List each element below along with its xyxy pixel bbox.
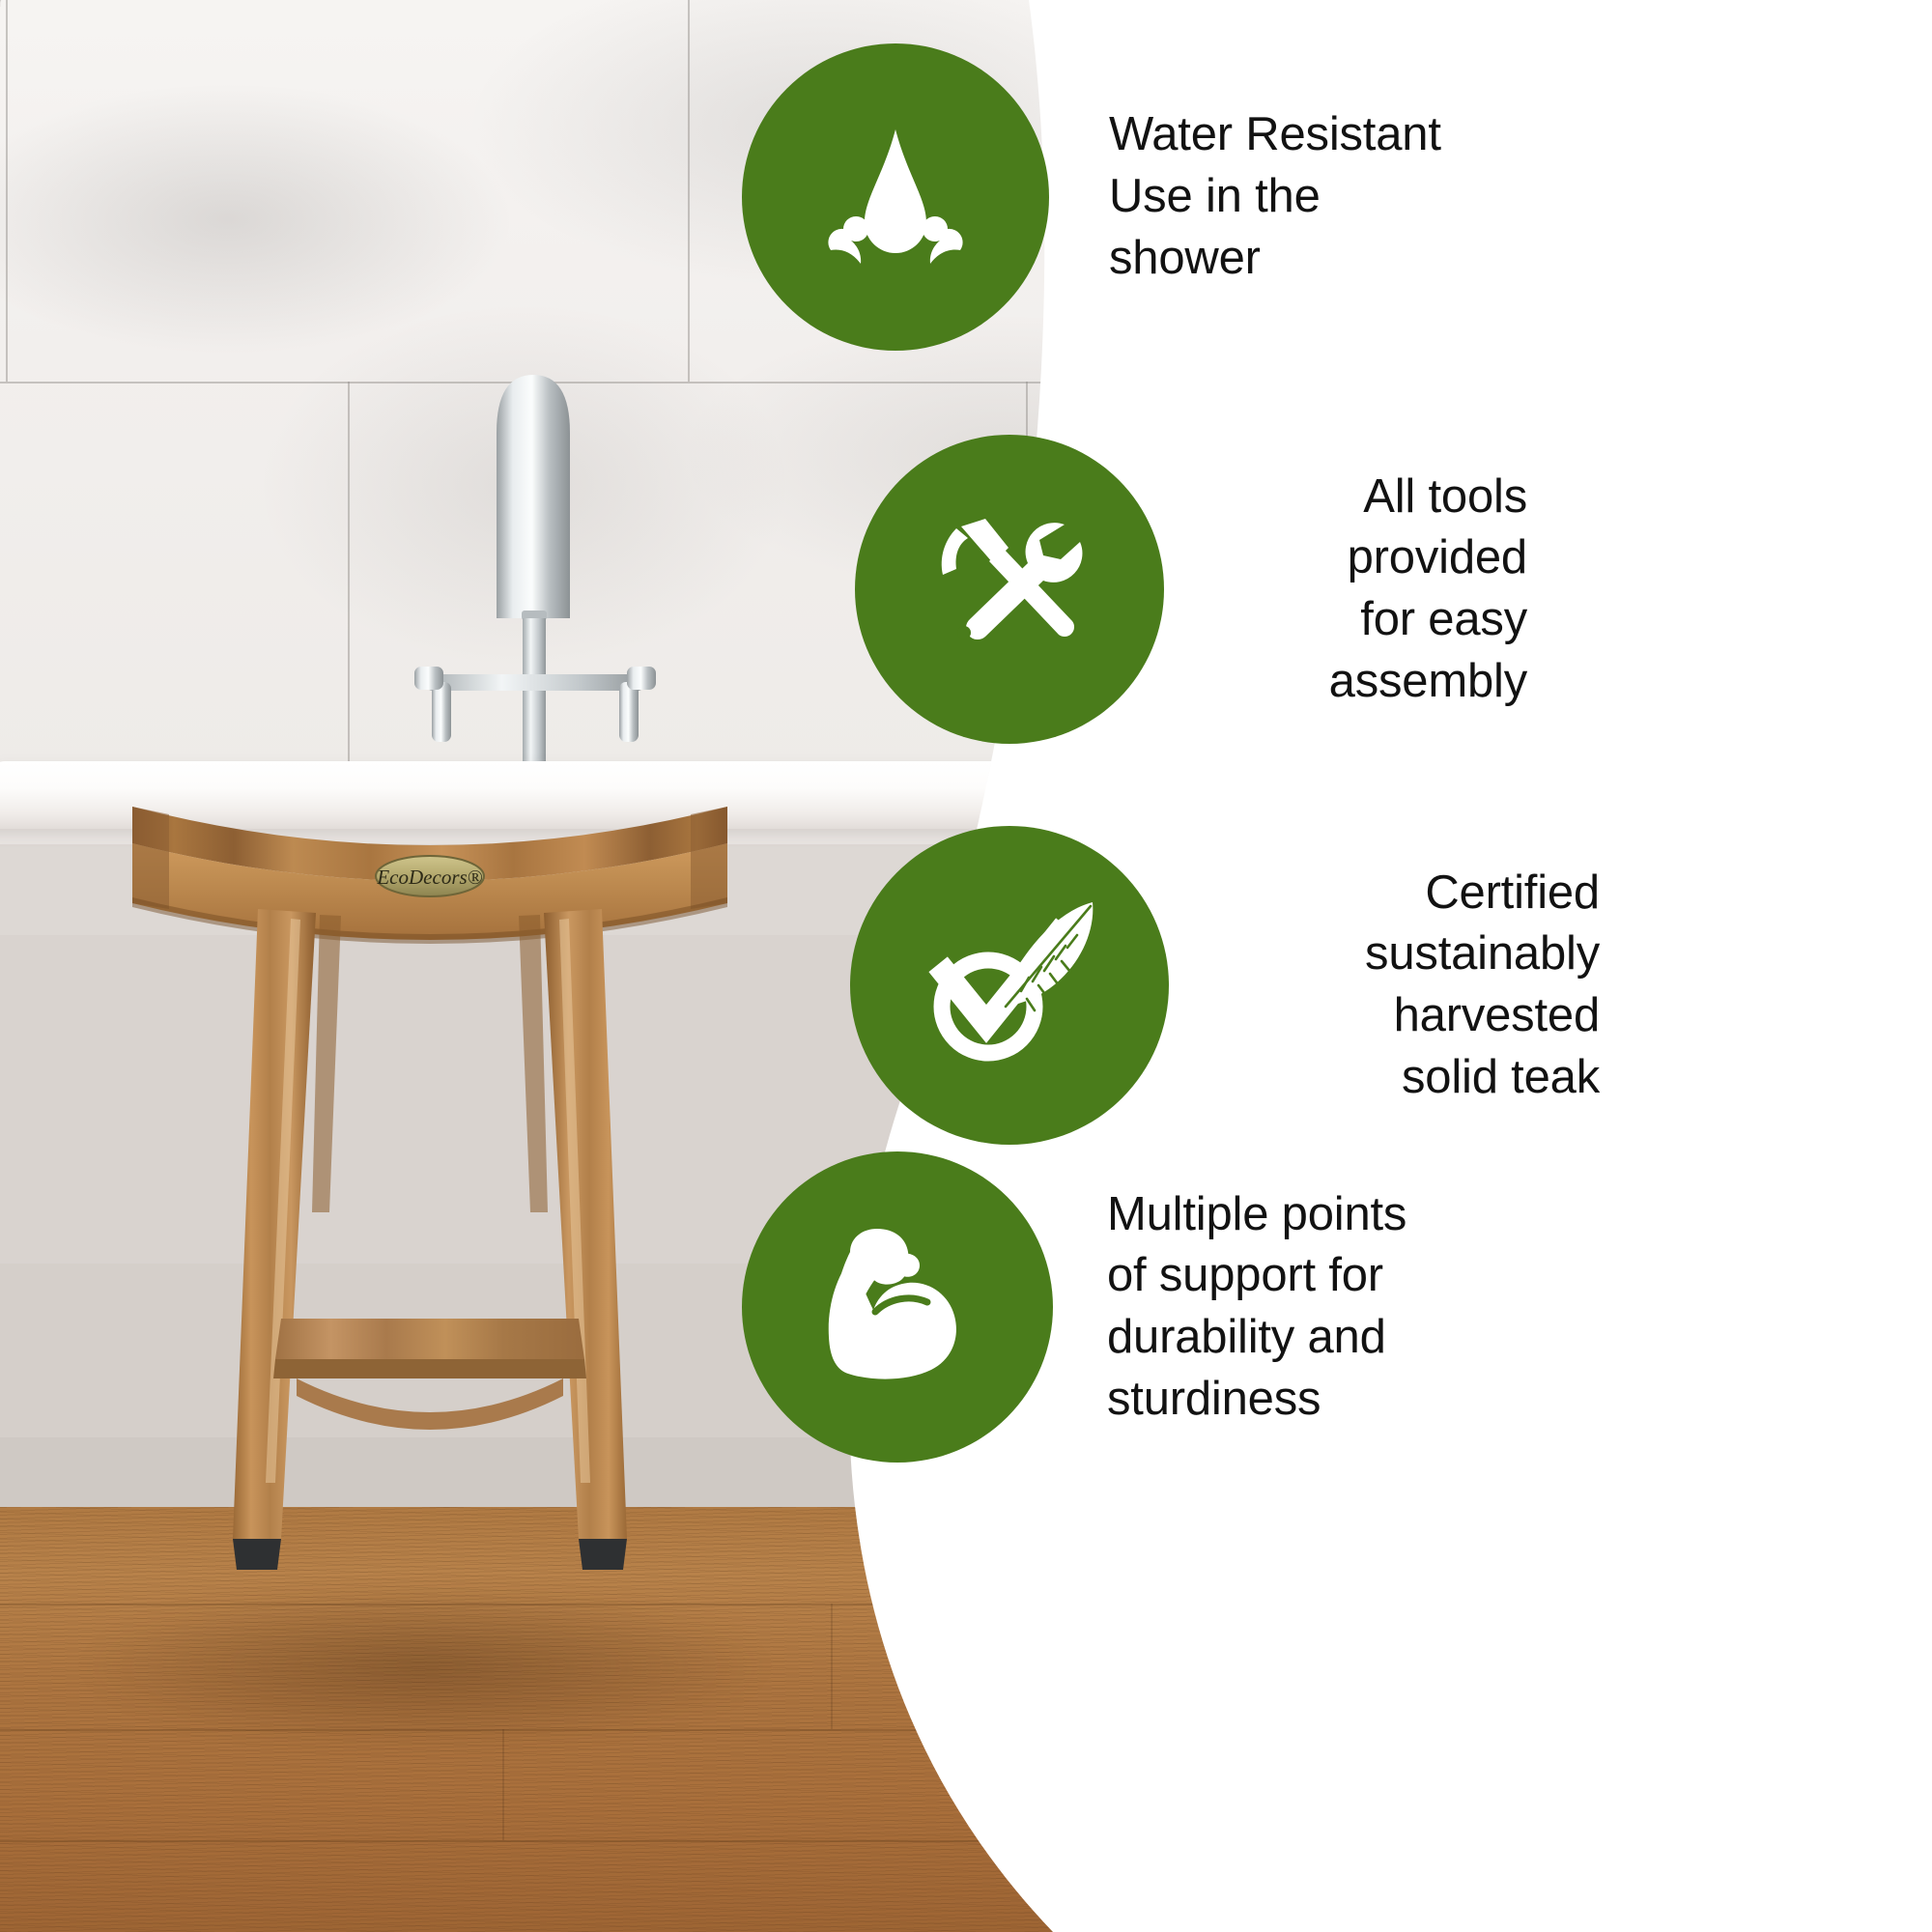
feature-durable-support: Multiple points of support for durabilit… (742, 1151, 1513, 1463)
feature-sustainable-teak: Certified sustainably harvested solid te… (850, 826, 1600, 1145)
feature-label-tools-included: All tools provided for easy assembly (1208, 467, 1527, 713)
feature-water-resistant: Water Resistant Use in the shower (742, 43, 1495, 351)
feature-icon-badge-durable-support (742, 1151, 1053, 1463)
floor-plank-seam (0, 1840, 1140, 1842)
leaf-checkmark-icon (913, 889, 1106, 1082)
floor-plank-seam (831, 1604, 833, 1729)
hammer-wrench-icon (918, 497, 1101, 681)
feature-icon-badge-tools-included (855, 435, 1164, 744)
feature-label-durable-support: Multiple points of support for durabilit… (1107, 1184, 1513, 1431)
feature-tools-included: All tools provided for easy assembly (855, 435, 1527, 744)
feature-label-water-resistant: Water Resistant Use in the shower (1109, 104, 1495, 289)
brand-badge-label: EcoDecors® (376, 866, 482, 889)
infographic-canvas: EcoDecors® Water Resistant Use in the sh… (0, 0, 1932, 1932)
teak-shower-stool: EcoDecors® (92, 729, 768, 1608)
feature-icon-badge-water-resistant (742, 43, 1049, 351)
feature-label-sustainable-teak: Certified sustainably harvested solid te… (1213, 863, 1600, 1109)
stool-floor-shadow (77, 1584, 773, 1748)
feature-icon-badge-sustainable-teak (850, 826, 1169, 1145)
water-drop-splash-icon (809, 110, 982, 284)
flexed-bicep-icon (808, 1217, 987, 1397)
